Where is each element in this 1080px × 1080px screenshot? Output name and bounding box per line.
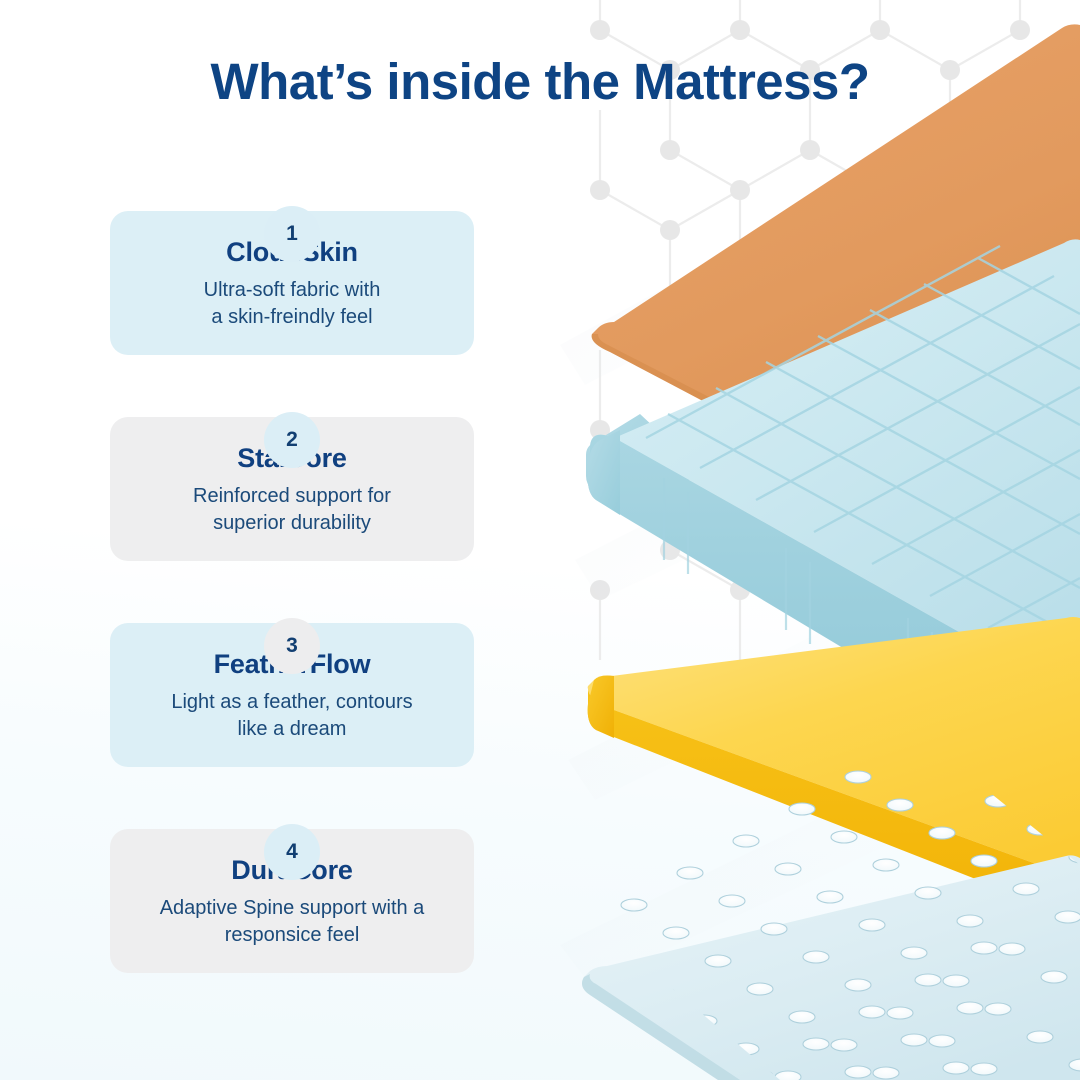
step-number-label: 2 bbox=[286, 428, 298, 452]
list-item[interactable]: 3 FeatherFlow Light as a feather, contou… bbox=[110, 623, 474, 767]
step-number-badge: 4 bbox=[269, 829, 315, 875]
list-item[interactable]: 2 StaiCore Reinforced support for superi… bbox=[110, 417, 474, 561]
step-number-label: 3 bbox=[286, 634, 298, 658]
layer-foam bbox=[585, 615, 1080, 920]
list-item[interactable]: 1 CloudSkin Ultra-soft fabric with a ski… bbox=[110, 211, 474, 355]
layer-quilted-support bbox=[586, 239, 1080, 790]
step-number-badge: 3 bbox=[269, 623, 315, 669]
layer-card-description: Reinforced support for superior durabili… bbox=[130, 483, 454, 537]
page-title: What’s inside the Mattress? bbox=[0, 52, 1080, 111]
layer-card-description: Ultra-soft fabric with a skin-freindly f… bbox=[130, 277, 454, 331]
layer-card-description: Adaptive Spine support with a responsice… bbox=[130, 895, 454, 949]
step-number-label: 4 bbox=[286, 840, 298, 864]
layer-card-description: Light as a feather, contours like a drea… bbox=[130, 689, 454, 743]
infographic-canvas: What’s inside the Mattress? 1 CloudSkin … bbox=[0, 0, 1080, 1080]
layer-perforated-base bbox=[582, 771, 1080, 1080]
layer-cards-list: 1 CloudSkin Ultra-soft fabric with a ski… bbox=[110, 188, 474, 973]
step-number-label: 1 bbox=[286, 222, 298, 246]
step-number-badge: 1 bbox=[269, 211, 315, 257]
step-number-badge: 2 bbox=[269, 417, 315, 463]
list-item[interactable]: 4 DuraCore Adaptive Spine support with a… bbox=[110, 829, 474, 973]
